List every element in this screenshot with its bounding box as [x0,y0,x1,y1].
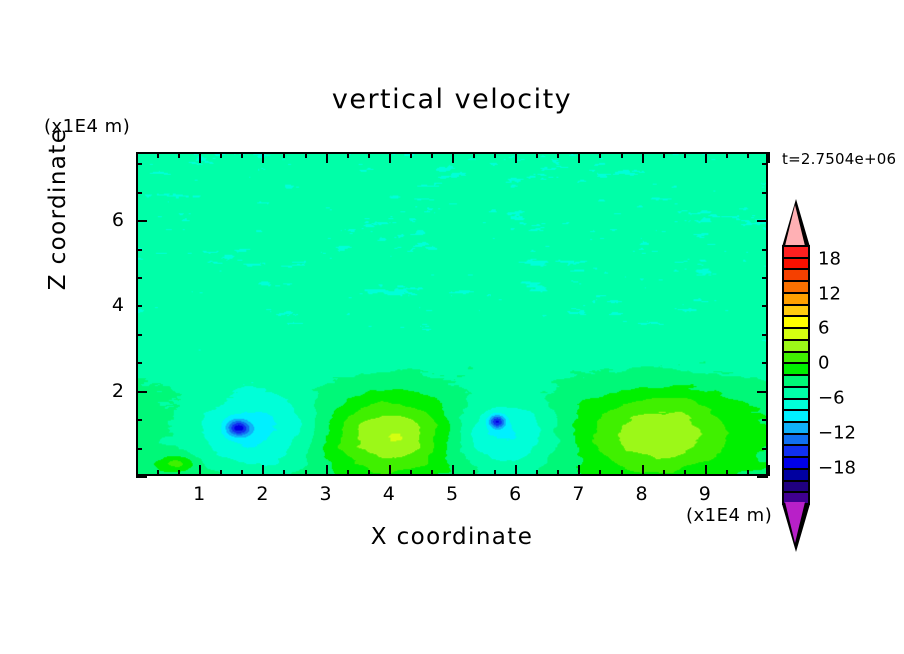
x-tick-label: 9 [699,483,711,505]
x-minor-tick-top [410,152,412,158]
x-major-tick-top [262,152,264,163]
y-minor-tick-right [762,249,768,251]
x-major-tick-top [515,152,517,163]
y-minor-tick-right [762,163,768,165]
x-minor-tick-top [599,152,601,158]
colorbar-over-fill [785,205,805,246]
colorbar-under-fill [785,502,805,543]
x-minor-tick [663,470,665,476]
x-minor-tick [283,470,285,476]
colorbar-band [784,317,808,329]
x-minor-tick-top [178,152,180,158]
colorbar-band [784,446,808,458]
colorbar-tick-label: 12 [818,283,841,304]
y-minor-tick-right [762,334,768,336]
x-tick-label: 7 [572,483,584,505]
colorbar-band [784,458,808,470]
x-minor-tick [599,470,601,476]
x-tick-label: 2 [256,483,268,505]
x-major-tick [768,465,770,476]
colorbar-tick-label: −12 [818,423,856,444]
y-minor-tick [136,249,142,251]
colorbar-band [784,329,808,341]
x-tick-label: 6 [509,483,521,505]
colorbar-band [784,364,808,376]
y-minor-tick [136,448,142,450]
x-minor-tick-top [220,152,222,158]
x-minor-tick [747,470,749,476]
colorbar-tick-label: 6 [818,318,829,339]
x-minor-tick [368,470,370,476]
timestamp-annotation: t=2.7504e+06 [782,150,896,168]
x-minor-tick-top [621,152,623,158]
x-minor-tick [157,470,159,476]
x-tick-label: 8 [636,483,648,505]
x-minor-tick [557,470,559,476]
colorbar-band [784,400,808,412]
x-minor-tick [305,470,307,476]
colorbar-band [784,294,808,306]
y-tick-label: 2 [90,380,124,402]
x-minor-tick-top [305,152,307,158]
y-minor-tick [136,334,142,336]
colorbar-band [784,353,808,365]
x-major-tick [705,465,707,476]
x-minor-tick [178,470,180,476]
contour-field [138,154,766,474]
y-minor-tick-right [762,192,768,194]
page-title: vertical velocity [0,84,904,115]
colorbar-tick-label: −18 [818,458,856,479]
y-tick-label: 6 [90,209,124,231]
y-minor-tick-right [762,448,768,450]
x-major-tick [452,465,454,476]
x-tick-label: 5 [446,483,458,505]
colorbar-band [784,376,808,388]
x-minor-tick [684,470,686,476]
x-minor-tick-top [494,152,496,158]
x-minor-tick-top [157,152,159,158]
x-minor-tick [241,470,243,476]
x-tick-label: 3 [320,483,332,505]
figure-canvas: vertical velocity (x1E4 m) t=2.7504e+06 … [0,0,904,654]
colorbar-band [784,388,808,400]
colorbar-band [784,270,808,282]
x-minor-tick-top [347,152,349,158]
x-major-tick-top [326,152,328,163]
x-major-tick-top [642,152,644,163]
y-major-tick [136,476,147,478]
x-minor-tick-top [663,152,665,158]
x-minor-tick [536,470,538,476]
y-major-tick-right [757,476,768,478]
y-minor-tick [136,305,142,307]
x-major-tick [199,465,201,476]
y-minor-tick [136,419,142,421]
colorbar-band [784,435,808,447]
colorbar-band [784,247,808,259]
x-minor-tick-top [431,152,433,158]
y-minor-tick-right [762,419,768,421]
y-minor-tick-right [762,362,768,364]
colorbar-band [784,259,808,271]
x-minor-tick [473,470,475,476]
colorbar-band [784,341,808,353]
x-major-tick-top [389,152,391,163]
y-minor-tick [136,192,142,194]
y-major-tick [136,391,147,393]
y-major-tick-right [757,391,768,393]
colorbar-tick-label: 0 [818,353,829,374]
x-major-tick [262,465,264,476]
x-minor-tick [410,470,412,476]
x-minor-tick [347,470,349,476]
x-minor-tick-top [557,152,559,158]
x-tick-label: 1 [193,483,205,505]
x-major-tick-top [199,152,201,163]
plot-area [136,152,768,476]
x-axis-title: X coordinate [136,524,768,550]
y-minor-tick [136,277,142,279]
x-minor-tick [220,470,222,476]
x-minor-tick-top [283,152,285,158]
colorbar-band [784,411,808,423]
colorbar-tick-label: 18 [818,248,841,269]
colorbar-tick-label: −6 [818,388,845,409]
y-minor-tick-right [762,277,768,279]
x-minor-tick-top [473,152,475,158]
y-minor-tick [136,362,142,364]
x-minor-tick-top [536,152,538,158]
x-tick-label: 4 [383,483,395,505]
x-major-tick-top [136,152,138,163]
y-minor-tick [136,163,142,165]
x-minor-tick-top [684,152,686,158]
x-major-tick-top [768,152,770,163]
colorbar-bands [782,245,810,505]
x-major-tick-top [705,152,707,163]
x-major-tick [515,465,517,476]
colorbar-band [784,482,808,494]
x-minor-tick [494,470,496,476]
colorbar-band [784,306,808,318]
y-minor-tick-right [762,305,768,307]
x-major-tick-top [452,152,454,163]
y-tick-label: 4 [90,294,124,316]
x-minor-tick [431,470,433,476]
x-major-tick [136,465,138,476]
y-axis-title: Z coordinate [45,91,71,327]
x-minor-tick [621,470,623,476]
x-minor-tick-top [726,152,728,158]
x-minor-tick-top [747,152,749,158]
x-major-tick-top [578,152,580,163]
x-minor-tick-top [368,152,370,158]
x-major-tick [578,465,580,476]
x-major-tick [642,465,644,476]
x-major-tick [389,465,391,476]
colorbar-band [784,470,808,482]
colorbar-band [784,282,808,294]
x-major-tick [326,465,328,476]
x-axis-unit-label: (x1E4 m) [686,505,772,526]
y-major-tick [136,220,147,222]
x-minor-tick [726,470,728,476]
y-major-tick-right [757,220,768,222]
colorbar-band [784,423,808,435]
x-minor-tick-top [241,152,243,158]
